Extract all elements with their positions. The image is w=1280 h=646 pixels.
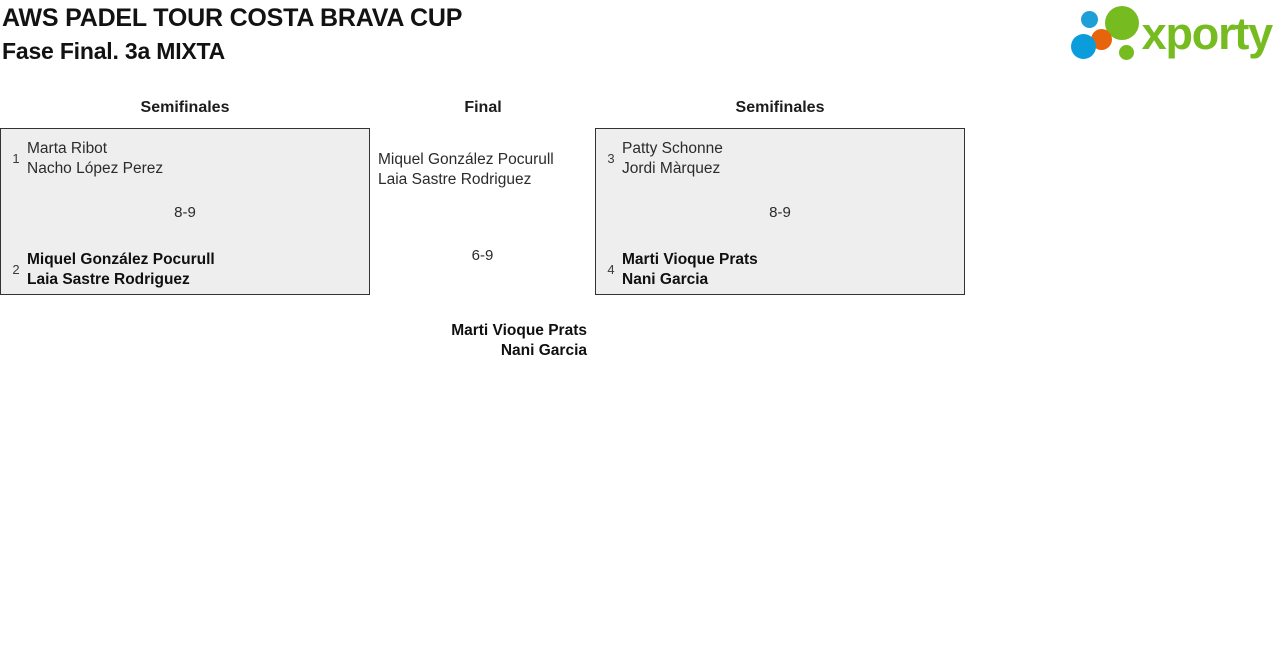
player-name: Jordi Màrquez (622, 159, 723, 179)
final-score: 6-9 (370, 247, 595, 265)
logo-dots-icon (1067, 5, 1141, 61)
team-seed: 2 (7, 262, 25, 277)
player-name: Miquel González Pocurull (378, 150, 554, 170)
player-name: Laia Sastre Rodriguez (27, 270, 215, 290)
team-seed: 3 (602, 151, 620, 166)
match-team-bottom[interactable]: 4 Marti Vioque Prats Nani Garcia (602, 250, 958, 289)
round-header-final: Final (370, 98, 596, 118)
final-team-champion[interactable]: Marti Vioque Prats Nani Garcia (387, 321, 587, 360)
xporty-logo[interactable]: xporty (1032, 2, 1272, 64)
match-semifinal-right[interactable]: 3 Patty Schonne Jordi Màrquez 8-9 4 Mart… (595, 128, 965, 295)
player-name: Nani Garcia (622, 270, 758, 290)
player-name: Nacho López Perez (27, 159, 163, 179)
player-name: Nani Garcia (501, 341, 587, 361)
team-names: Marta Ribot Nacho López Perez (27, 139, 163, 178)
match-team-top[interactable]: 1 Marta Ribot Nacho López Perez (7, 139, 363, 178)
round-header-semifinals-right: Semifinales (595, 98, 965, 118)
team-names: Patty Schonne Jordi Màrquez (622, 139, 723, 178)
match-team-top[interactable]: 3 Patty Schonne Jordi Màrquez (602, 139, 958, 178)
player-name: Laia Sastre Rodriguez (378, 170, 531, 190)
match-team-bottom[interactable]: 2 Miquel González Pocurull Laia Sastre R… (7, 250, 363, 289)
match-score: 8-9 (1, 204, 369, 222)
player-name: Marta Ribot (27, 139, 163, 159)
player-name: Miquel González Pocurull (27, 250, 215, 270)
page-subtitle: Fase Final. 3a MIXTA (2, 35, 1030, 68)
tournament-header: AWS PADEL TOUR COSTA BRAVA CUP Fase Fina… (0, 0, 1030, 68)
page-title: AWS PADEL TOUR COSTA BRAVA CUP (2, 2, 1030, 35)
logo-wordmark: xporty (1142, 11, 1272, 56)
logo-dot-blue-small-icon (1081, 11, 1098, 28)
player-name: Patty Schonne (622, 139, 723, 159)
team-seed: 4 (602, 262, 620, 277)
match-score: 8-9 (596, 204, 964, 222)
team-names: Miquel González Pocurull Laia Sastre Rod… (27, 250, 215, 289)
player-name: Marti Vioque Prats (451, 321, 587, 341)
match-semifinal-left[interactable]: 1 Marta Ribot Nacho López Perez 8-9 2 Mi… (0, 128, 370, 295)
logo-dot-green-small-icon (1119, 45, 1134, 60)
round-header-semifinals-left: Semifinales (0, 98, 370, 118)
logo-dot-blue-large-icon (1071, 34, 1096, 59)
final-team-runner-up[interactable]: Miquel González Pocurull Laia Sastre Rod… (378, 150, 554, 189)
team-names: Marti Vioque Prats Nani Garcia (622, 250, 758, 289)
team-seed: 1 (7, 151, 25, 166)
player-name: Marti Vioque Prats (622, 250, 758, 270)
